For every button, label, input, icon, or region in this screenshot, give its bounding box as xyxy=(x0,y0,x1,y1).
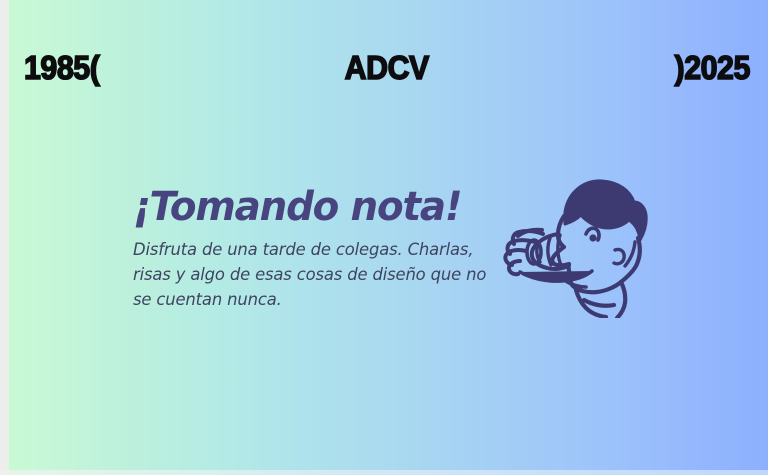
header-year-end: )2025 xyxy=(675,51,750,84)
illustration-svg xyxy=(498,172,668,318)
bottom-edge-strip xyxy=(0,470,768,475)
header-brand-adcv: ADCV xyxy=(345,51,429,84)
man-drinking-from-glass-icon xyxy=(498,172,668,318)
banner-header: 1985( ADCV )2025 xyxy=(0,44,768,90)
banner: 1985( ADCV )2025 ¡Tomando nota! Disfruta… xyxy=(0,0,768,475)
header-year-start: 1985( xyxy=(24,51,99,84)
left-edge-strip xyxy=(0,0,9,475)
body-paragraph: Disfruta de una tarde de colegas. Charla… xyxy=(133,238,493,313)
content-block: ¡Tomando nota! Disfruta de una tarde de … xyxy=(133,186,523,313)
headline: ¡Tomando nota! xyxy=(133,186,511,228)
